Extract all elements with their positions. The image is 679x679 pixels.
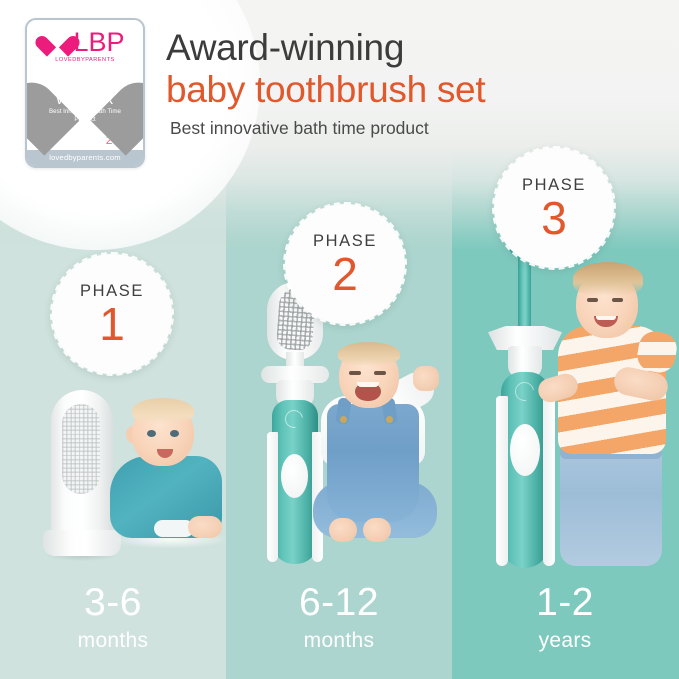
badge-logo: LBP: [45, 29, 124, 56]
child-photo-phase-2: [307, 342, 447, 568]
age-range-1: 3-6: [0, 583, 226, 622]
heart-icon: [45, 31, 70, 54]
badge-brand-full: LOVEDBYPARENTS: [55, 57, 114, 63]
winner-heart-icon: ✦ WINNER Best Innovative Bath Time Produ…: [36, 67, 134, 131]
age-label-phase-2: 6-12 months: [226, 583, 452, 653]
badge-winner-label: WINNER: [36, 92, 134, 107]
headline-block: Award-winning baby toothbrush set Best i…: [166, 28, 666, 139]
phase-badge-3: PHASE 3: [492, 146, 616, 270]
child-photo-phase-3: [552, 258, 679, 568]
phase-badge-2: PHASE 2: [283, 202, 407, 326]
child-photo-phase-1: [108, 398, 232, 568]
phase-badge-1: PHASE 1: [50, 252, 174, 376]
award-badge: LBP LOVEDBYPARENTS ✦ WINNER Best Innovat…: [25, 18, 145, 168]
page-title: Award-winning: [166, 28, 666, 68]
age-range-2: 6-12: [226, 583, 452, 622]
finger-brush-bristle-pad: [62, 404, 100, 494]
age-unit-2: months: [226, 629, 452, 653]
page-subtitle: Best innovative bath time product: [170, 118, 666, 139]
badge-award-description: Best Innovative Bath Time Product: [44, 108, 126, 125]
age-label-phase-3: 1-2 years: [452, 583, 678, 653]
phase-number-2: 2: [332, 253, 358, 297]
page-title-accent: baby toothbrush set: [166, 70, 666, 111]
age-unit-3: years: [452, 629, 678, 653]
age-unit-1: months: [0, 629, 226, 653]
phase-number-1: 1: [99, 303, 125, 347]
age-label-phase-1: 3-6 months: [0, 583, 226, 653]
silicone-brush-grip-oval: [281, 454, 308, 498]
badge-brand-abbr: LBP: [73, 29, 124, 56]
star-icon: ✦: [102, 72, 117, 87]
toothbrush-grip-oval: [510, 424, 540, 476]
phase-number-3: 3: [541, 197, 567, 241]
age-range-3: 1-2: [452, 583, 678, 622]
infographic-canvas: LBP LOVEDBYPARENTS ✦ WINNER Best Innovat…: [0, 0, 679, 679]
